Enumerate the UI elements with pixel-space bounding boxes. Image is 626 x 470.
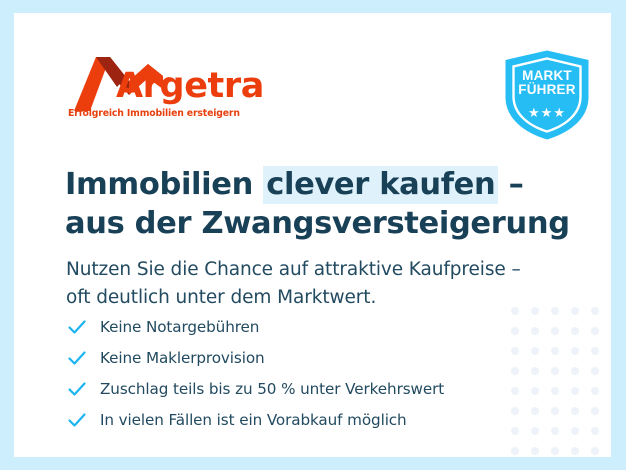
dot [551, 427, 559, 435]
list-item: Keine Maklerprovision [66, 342, 546, 373]
benefit-label: Keine Maklerprovision [100, 349, 265, 367]
dot [551, 407, 559, 415]
dot [591, 347, 599, 355]
headline-line-1: Immobilien clever kaufen – [65, 166, 585, 204]
dot [571, 387, 579, 395]
benefit-label: In vielen Fällen ist ein Vorabkauf mögli… [100, 411, 407, 429]
logo-wordmark: Argetra [116, 69, 264, 104]
subtitle-line-1: Nutzen Sie die Chance auf attraktive Kau… [66, 256, 586, 285]
dot [551, 347, 559, 355]
list-item: In vielen Fällen ist ein Vorabkauf mögli… [66, 404, 546, 435]
page-title: Immobilien clever kaufen – aus der Zwang… [65, 166, 585, 243]
dot [531, 447, 539, 455]
headline-prefix: Immobilien [65, 167, 263, 202]
dot [591, 427, 599, 435]
dot [591, 307, 599, 315]
list-item: Zuschlag teils bis zu 50 % unter Verkehr… [66, 373, 546, 404]
headline-line-2: aus der Zwangsversteigerung [65, 205, 585, 243]
promo-card: Argetra Erfolgreich Immobilien ersteiger… [14, 13, 611, 457]
check-icon [66, 378, 88, 400]
dot [591, 387, 599, 395]
check-icon [66, 409, 88, 431]
check-icon [66, 347, 88, 369]
dot [571, 407, 579, 415]
dot [551, 367, 559, 375]
dot [591, 407, 599, 415]
headline-highlight: clever kaufen [263, 166, 498, 204]
dot [591, 327, 599, 335]
dot [551, 327, 559, 335]
list-item: Keine Notargebühren [66, 311, 546, 342]
dot [571, 327, 579, 335]
benefit-label: Zuschlag teils bis zu 50 % unter Verkehr… [100, 380, 444, 398]
check-icon [66, 316, 88, 338]
market-leader-badge: MARKT FÜHRER ★★★ [503, 49, 591, 141]
subtitle: Nutzen Sie die Chance auf attraktive Kau… [66, 256, 586, 313]
dot [511, 447, 519, 455]
dot [571, 347, 579, 355]
logo-tagline: Erfolgreich Immobilien ersteigern [68, 108, 240, 119]
dot [591, 367, 599, 375]
benefit-label: Keine Notargebühren [100, 318, 259, 336]
dot [571, 367, 579, 375]
headline-suffix: – [498, 167, 523, 202]
dot [551, 447, 559, 455]
benefits-list: Keine Notargebühren Keine Maklerprovisio… [66, 311, 546, 435]
dot [551, 387, 559, 395]
shield-badge-icon [503, 49, 591, 141]
dot [591, 447, 599, 455]
subtitle-line-2: oft deutlich unter dem Marktwert. [66, 284, 586, 313]
dot [571, 447, 579, 455]
argetra-logo[interactable]: Argetra Erfolgreich Immobilien ersteiger… [66, 55, 266, 127]
dot [571, 427, 579, 435]
